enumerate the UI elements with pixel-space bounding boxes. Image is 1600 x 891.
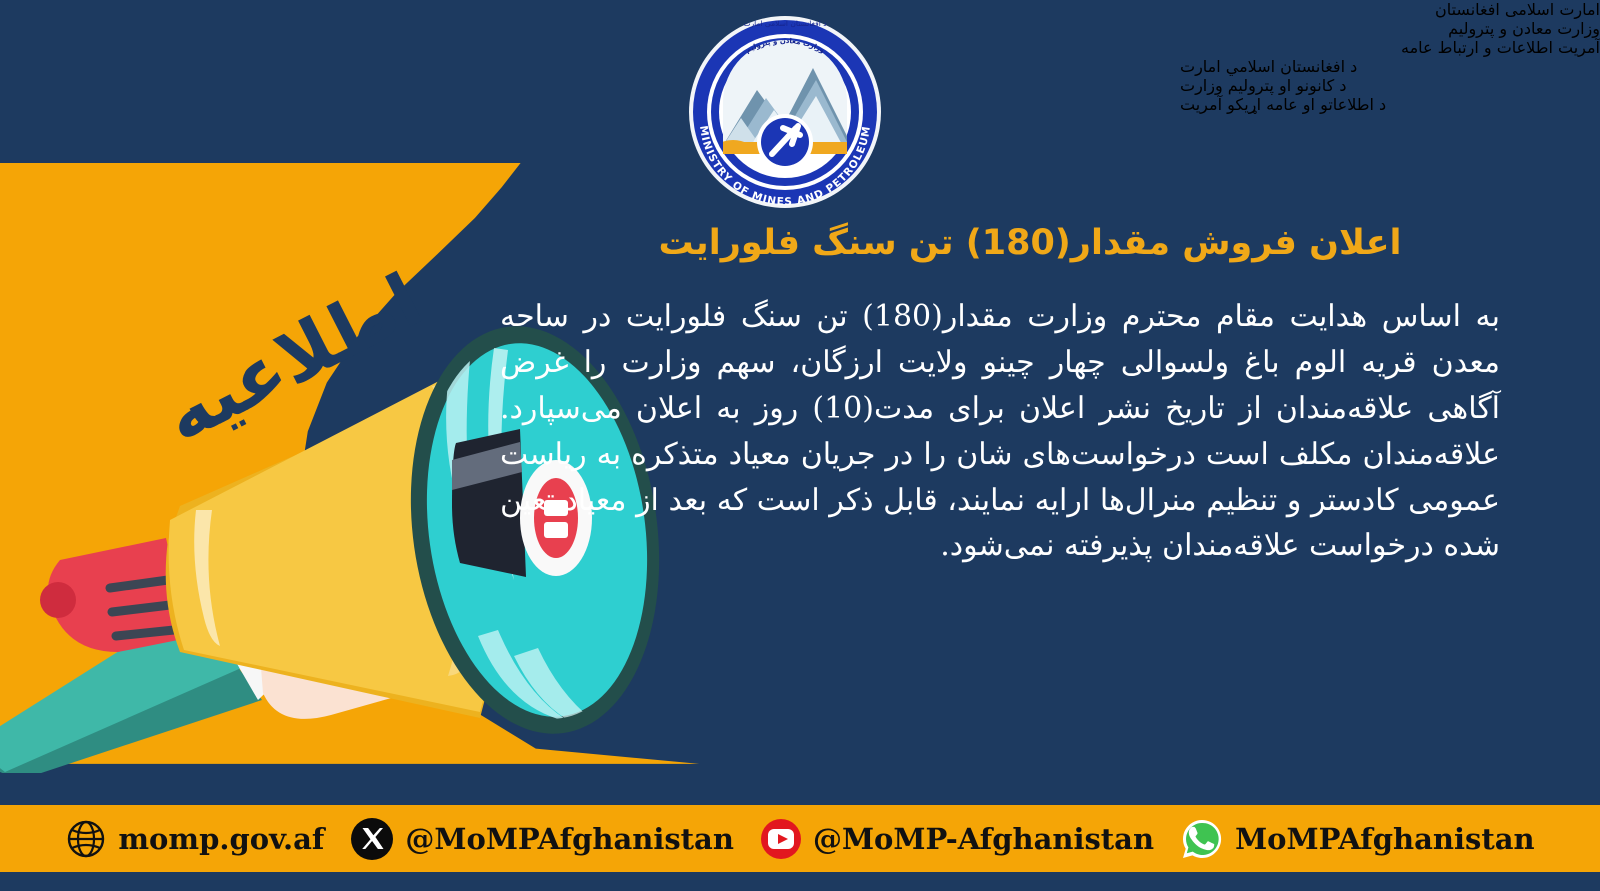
ministry-emblem: وزارت معادن و پترولیم MINISTRY OF MINES … (672, 2, 898, 212)
social-item-x[interactable]: @MoMPAfghanistan (350, 817, 734, 861)
youtube-icon (760, 818, 802, 860)
body-paragraph-2: علاقه‌مندان مکلف است درخواست‌های شان را … (500, 432, 1500, 570)
poster-header: امارت اسلامی افغانستان وزارت معادن و پتر… (0, 0, 1600, 163)
header-dari-block: امارت اسلامی افغانستان وزارت معادن و پتر… (1200, 0, 1600, 57)
header-pashto-line-2: د کانونو او پترولیم وزارت (1180, 76, 1600, 95)
footer-bottom-divider (0, 872, 1600, 891)
social-label-website: momp.gov.af (118, 822, 324, 856)
header-dari-line-1: امارت اسلامی افغانستان (1200, 0, 1600, 19)
body-paragraph-1: به اساس هدایت مقام محترم وزارت مقدار(180… (500, 294, 1500, 432)
social-label-whatsapp: MoMPAfghanistan (1235, 822, 1535, 856)
header-pashto-block: د افغانستان اسلامي امارت د کانونو او پتر… (1180, 57, 1600, 114)
header-pashto-line-1: د افغانستان اسلامي امارت (1180, 57, 1600, 76)
megaphone-end-cap (40, 538, 188, 652)
social-item-youtube[interactable]: @MoMP-Afghanistan (760, 818, 1154, 860)
social-item-website[interactable]: momp.gov.af (65, 818, 324, 860)
x-twitter-icon (350, 817, 394, 861)
footer-social-bar: momp.gov.af @MoMPAfghanistan @MoMP-Afgha… (0, 805, 1600, 872)
announcement-poster: اطلاعیه امارت اسلامی افغانستان وزارت معا… (0, 0, 1600, 891)
social-item-whatsapp[interactable]: MoMPAfghanistan (1180, 817, 1535, 861)
header-pashto-line-3: د اطلاعاتو او عامه اړیکو آمریت (1180, 95, 1600, 114)
social-label-x: @MoMPAfghanistan (405, 822, 734, 856)
footer-top-divider (0, 773, 1600, 805)
announcement-title: اعلان فروش مقدار(180) تن سنگ فلورایت (570, 223, 1490, 263)
emblem-top-text: د افغانستان اسلامی امارت (743, 19, 826, 28)
announcement-body: به اساس هدایت مقام محترم وزارت مقدار(180… (500, 294, 1500, 569)
header-dari-line-2: وزارت معادن و پترولیم (1200, 19, 1600, 38)
whatsapp-icon (1180, 817, 1224, 861)
globe-icon (65, 818, 107, 860)
social-label-youtube: @MoMP-Afghanistan (813, 822, 1154, 856)
header-dari-line-3: آمریت اطلاعات و ارتباط عامه (1200, 38, 1600, 57)
